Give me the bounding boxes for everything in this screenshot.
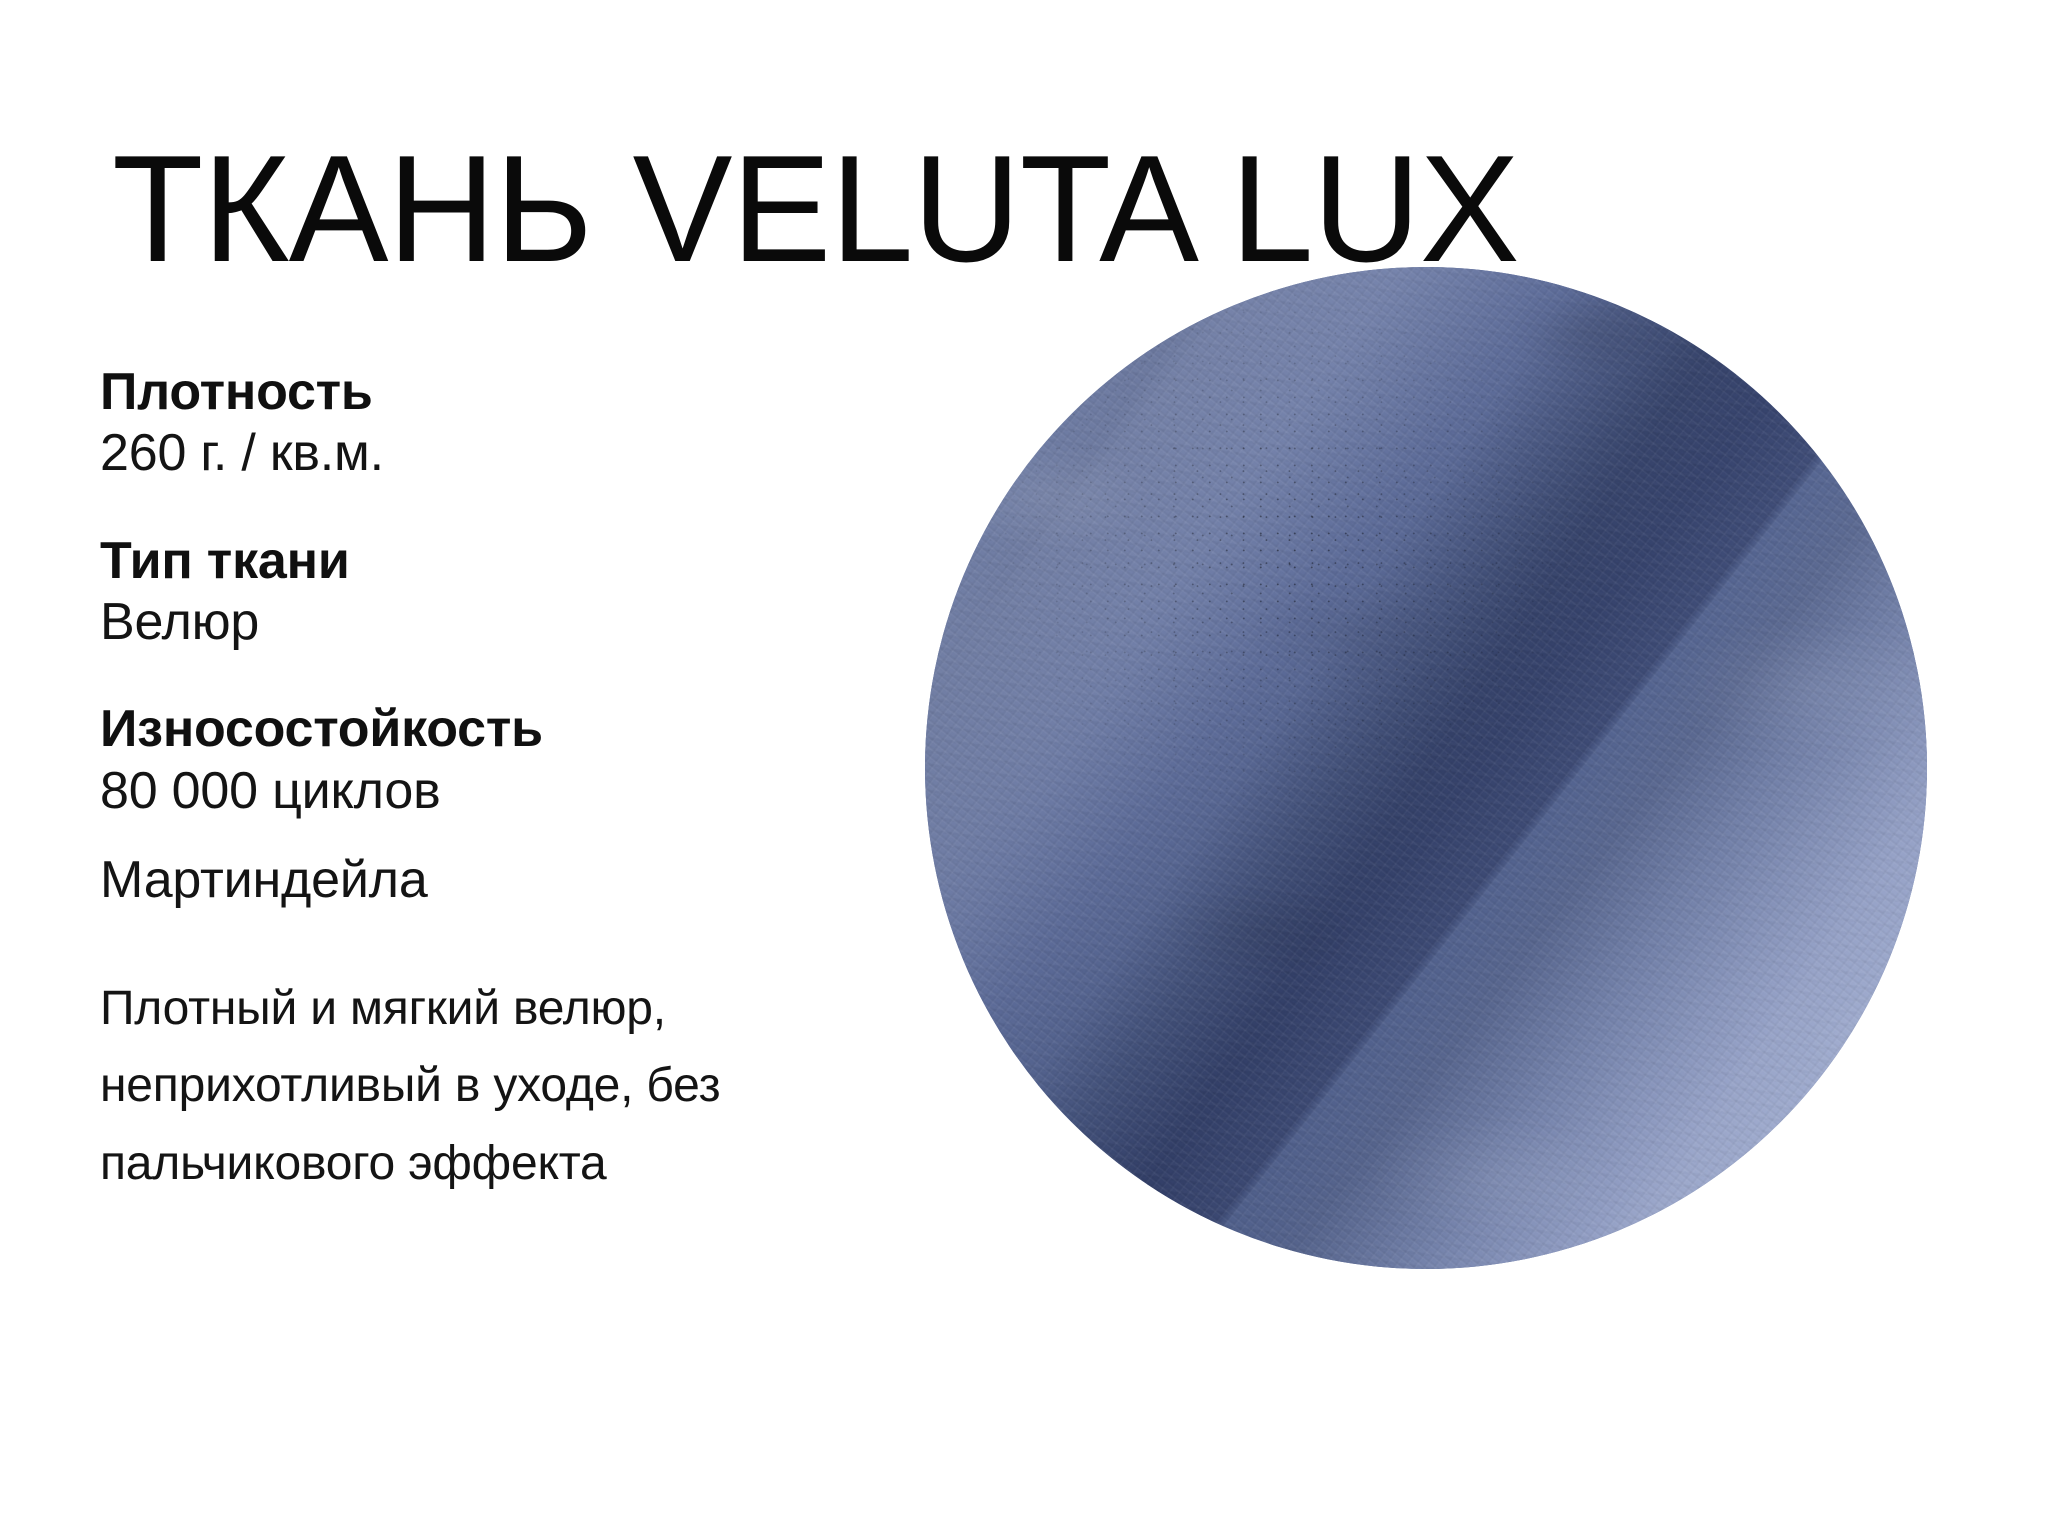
fabric-vignette (925, 267, 1927, 1269)
spec-value-durability-standard: Мартиндейла (100, 850, 960, 911)
spec-block-fabric-type: Тип ткани Велюр (100, 531, 960, 654)
spec-value-durability-cycles: 80 000 циклов (100, 761, 960, 822)
fabric-description: Плотный и мягкий велюр, неприхотливый в … (100, 970, 930, 1203)
spec-value-density: 260 г. / кв.м. (100, 423, 960, 484)
spec-label-durability: Износостойкость (100, 699, 960, 760)
spec-block-density: Плотность 260 г. / кв.м. (100, 362, 960, 485)
spec-label-fabric-type: Тип ткани (100, 531, 960, 592)
spec-block-durability: Износостойкость 80 000 циклов Мартиндейл… (100, 699, 960, 911)
fabric-spec-card: ТКАНЬ VELUTA LUX Плотность 260 г. / кв.м… (0, 0, 2048, 1536)
spec-label-density: Плотность (100, 362, 960, 423)
spec-value-fabric-type: Велюр (100, 592, 960, 653)
spec-list: Плотность 260 г. / кв.м. Тип ткани Велюр… (100, 362, 960, 1251)
page-title: ТКАНЬ VELUTA LUX (112, 130, 1519, 290)
fabric-swatch-circle (925, 267, 1927, 1269)
